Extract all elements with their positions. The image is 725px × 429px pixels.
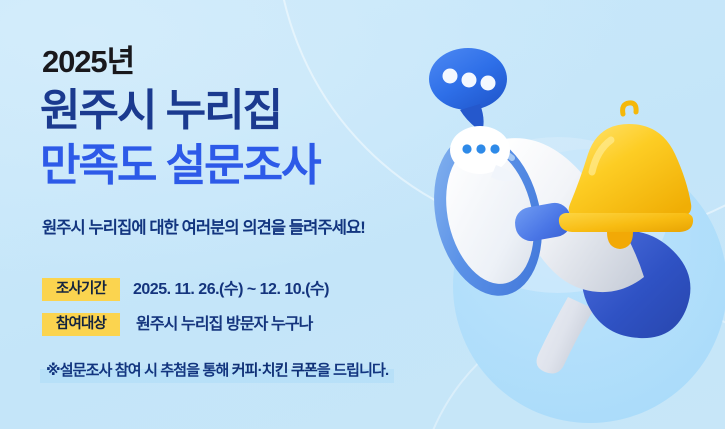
value-participants: 원주시 누리집 방문자 누구나 bbox=[136, 317, 312, 333]
heading-line-2: 만족도 설문조사 bbox=[40, 144, 320, 188]
survey-promo-banner: 2025년 원주시 누리집 만족도 설문조사 원주시 누리집에 대한 여러분의 … bbox=[0, 0, 725, 429]
info-row-survey-period: 조사기간 2025. 11. 26.(수) ~ 12. 10.(수) bbox=[42, 278, 329, 301]
badge-participants: 참여대상 bbox=[42, 313, 120, 336]
heading-line-1: 원주시 누리집 bbox=[40, 89, 281, 133]
bell-loop bbox=[623, 103, 637, 114]
banner-text-content: 2025년 원주시 누리집 만족도 설문조사 원주시 누리집에 대한 여러분의 … bbox=[42, 0, 462, 429]
banner-note: ※설문조사 참여 시 추첨을 통해 커피·치킨 쿠폰을 드립니다. bbox=[40, 359, 394, 383]
value-survey-period: 2025. 11. 26.(수) ~ 12. 10.(수) bbox=[133, 282, 329, 298]
note-prefix: ※설문조사 참여 시 추첨을 통해 bbox=[46, 362, 232, 379]
note-suffix: 을 드립니다. bbox=[317, 362, 388, 379]
bell-lip bbox=[559, 213, 693, 232]
info-row-participants: 참여대상 원주시 누리집 방문자 누구나 bbox=[42, 313, 312, 336]
badge-survey-period: 조사기간 bbox=[42, 278, 120, 301]
bell-body bbox=[569, 124, 692, 217]
heading-year: 2025년 bbox=[42, 46, 134, 77]
banner-subtitle: 원주시 누리집에 대한 여러분의 의견을 들려주세요! bbox=[42, 220, 365, 237]
note-highlight: 커피·치킨 쿠폰 bbox=[232, 362, 317, 379]
